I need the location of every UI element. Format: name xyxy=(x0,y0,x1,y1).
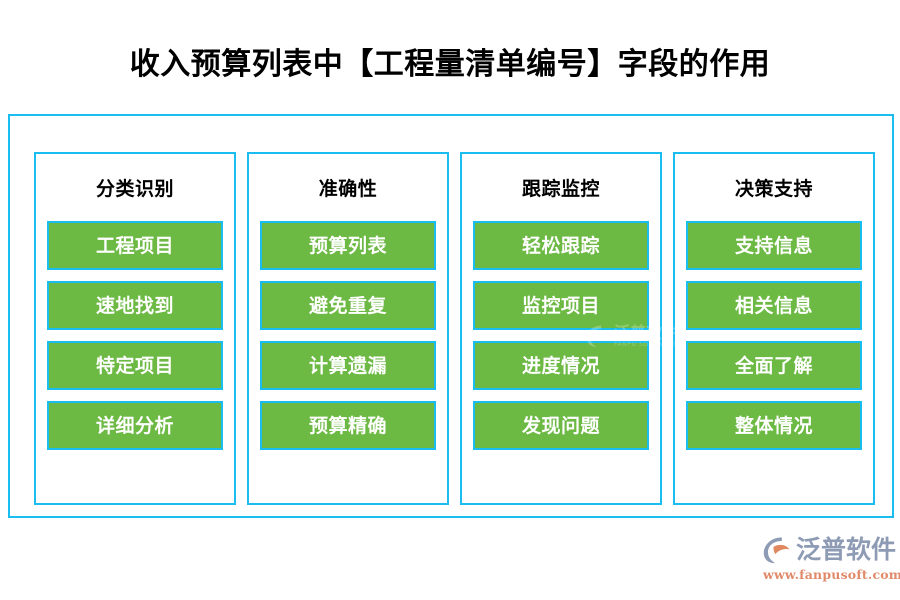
category-header-4: 决策支持 xyxy=(735,176,813,202)
item-list-2: 预算列表 避免重复 计算遗漏 预算精确 xyxy=(249,221,447,450)
category-column-1: 分类识别 工程项目 速地找到 特定项目 详细分析 xyxy=(34,152,236,505)
category-column-4: 决策支持 支持信息 相关信息 全面了解 整体情况 xyxy=(673,152,875,505)
brand-logo: 泛普软件 www.fanpusoft.com xyxy=(762,534,894,586)
item-box[interactable]: 特定项目 xyxy=(47,341,223,390)
category-header-2: 准确性 xyxy=(319,176,378,202)
item-list-3: 轻松跟踪 监控项目 进度情况 发现问题 xyxy=(462,221,660,450)
item-box[interactable]: 相关信息 xyxy=(686,281,862,330)
item-box[interactable]: 发现问题 xyxy=(473,401,649,450)
category-column-2: 准确性 预算列表 避免重复 计算遗漏 预算精确 xyxy=(247,152,449,505)
fanpu-logo-icon xyxy=(762,535,792,565)
category-column-3: 跟踪监控 轻松跟踪 监控项目 进度情况 发现问题 xyxy=(460,152,662,505)
brand-row: 泛普软件 xyxy=(762,534,896,566)
item-box[interactable]: 全面了解 xyxy=(686,341,862,390)
item-box[interactable]: 计算遗漏 xyxy=(260,341,436,390)
item-box[interactable]: 详细分析 xyxy=(47,401,223,450)
item-box[interactable]: 工程项目 xyxy=(47,221,223,270)
infographic-page: 收入预算列表中【工程量清单编号】字段的作用 分类识别 工程项目 速地找到 特定项… xyxy=(0,0,900,600)
item-list-4: 支持信息 相关信息 全面了解 整体情况 xyxy=(675,221,873,450)
item-box[interactable]: 预算精确 xyxy=(260,401,436,450)
item-box[interactable]: 监控项目 xyxy=(473,281,649,330)
item-box[interactable]: 轻松跟踪 xyxy=(473,221,649,270)
item-box[interactable]: 进度情况 xyxy=(473,341,649,390)
category-header-3: 跟踪监控 xyxy=(522,176,600,202)
brand-url: www.fanpusoft.com xyxy=(763,567,900,583)
category-columns: 分类识别 工程项目 速地找到 特定项目 详细分析 准确性 预算列表 避免重复 计… xyxy=(34,152,875,505)
item-box[interactable]: 整体情况 xyxy=(686,401,862,450)
brand-name: 泛普软件 xyxy=(796,535,896,565)
item-box[interactable]: 预算列表 xyxy=(260,221,436,270)
category-header-1: 分类识别 xyxy=(96,176,174,202)
item-list-1: 工程项目 速地找到 特定项目 详细分析 xyxy=(36,221,234,450)
item-box[interactable]: 避免重复 xyxy=(260,281,436,330)
item-box[interactable]: 速地找到 xyxy=(47,281,223,330)
item-box[interactable]: 支持信息 xyxy=(686,221,862,270)
page-title: 收入预算列表中【工程量清单编号】字段的作用 xyxy=(0,44,900,86)
